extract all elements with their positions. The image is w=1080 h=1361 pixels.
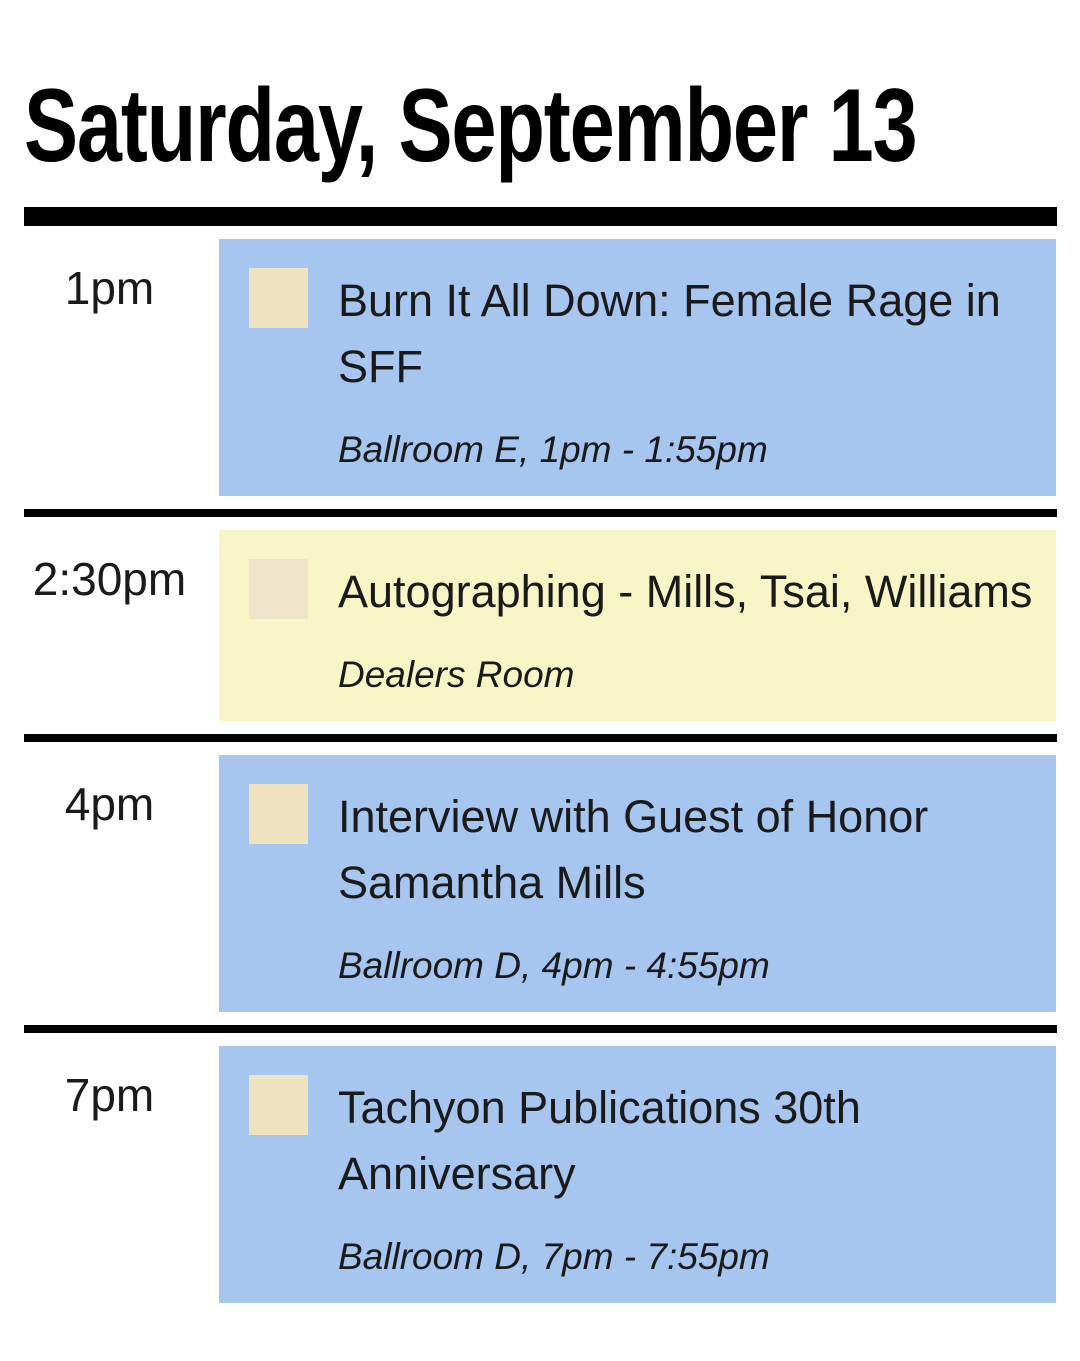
event-card-body: Burn It All Down: Female Rage in SFF Bal… bbox=[338, 268, 1040, 472]
event-time-cell: 7pm bbox=[0, 1046, 219, 1303]
event-card-body: Tachyon Publications 30th Anniversary Ba… bbox=[338, 1075, 1040, 1279]
event-location: Ballroom D, 7pm - 7:55pm bbox=[338, 1235, 1040, 1279]
event-card-body: Autographing - Mills, Tsai, Williams Dea… bbox=[338, 559, 1040, 697]
list-item[interactable]: 7pm Tachyon Publications 30th Anniversar… bbox=[0, 1033, 1080, 1316]
event-time-cell: 2:30pm bbox=[0, 530, 219, 721]
event-title: Burn It All Down: Female Rage in SFF bbox=[338, 268, 1040, 400]
event-card[interactable]: Interview with Guest of Honor Samantha M… bbox=[219, 755, 1056, 1012]
event-category-swatch-icon bbox=[249, 784, 308, 844]
event-location: Dealers Room bbox=[338, 653, 1040, 697]
schedule-list: 1pm Burn It All Down: Female Rage in SFF… bbox=[0, 226, 1080, 1316]
event-time: 1pm bbox=[65, 265, 154, 311]
event-time: 2:30pm bbox=[33, 556, 186, 602]
list-item[interactable]: 2:30pm Autographing - Mills, Tsai, Willi… bbox=[0, 517, 1080, 734]
event-category-swatch-icon bbox=[249, 268, 308, 328]
header-divider bbox=[24, 207, 1057, 226]
schedule-page: Saturday, September 13 1pm Burn It All D… bbox=[0, 0, 1080, 1361]
event-location: Ballroom D, 4pm - 4:55pm bbox=[338, 944, 1040, 988]
list-item[interactable]: 4pm Interview with Guest of Honor Samant… bbox=[0, 742, 1080, 1025]
event-time-cell: 1pm bbox=[0, 239, 219, 496]
page-title: Saturday, September 13 bbox=[24, 74, 830, 178]
row-divider bbox=[24, 734, 1057, 742]
event-time: 7pm bbox=[65, 1072, 154, 1118]
event-title: Autographing - Mills, Tsai, Williams bbox=[338, 559, 1040, 625]
day-header: Saturday, September 13 bbox=[24, 74, 1057, 178]
event-card[interactable]: Burn It All Down: Female Rage in SFF Bal… bbox=[219, 239, 1056, 496]
event-location: Ballroom E, 1pm - 1:55pm bbox=[338, 428, 1040, 472]
row-divider bbox=[24, 509, 1057, 517]
event-category-swatch-icon bbox=[249, 1075, 308, 1135]
event-title: Tachyon Publications 30th Anniversary bbox=[338, 1075, 1040, 1207]
event-time: 4pm bbox=[65, 781, 154, 827]
event-title: Interview with Guest of Honor Samantha M… bbox=[338, 784, 1040, 916]
event-time-cell: 4pm bbox=[0, 755, 219, 1012]
event-category-swatch-icon bbox=[249, 559, 308, 619]
event-card[interactable]: Tachyon Publications 30th Anniversary Ba… bbox=[219, 1046, 1056, 1303]
event-card[interactable]: Autographing - Mills, Tsai, Williams Dea… bbox=[219, 530, 1056, 721]
event-card-body: Interview with Guest of Honor Samantha M… bbox=[338, 784, 1040, 988]
list-item[interactable]: 1pm Burn It All Down: Female Rage in SFF… bbox=[0, 226, 1080, 509]
row-divider bbox=[24, 1025, 1057, 1033]
